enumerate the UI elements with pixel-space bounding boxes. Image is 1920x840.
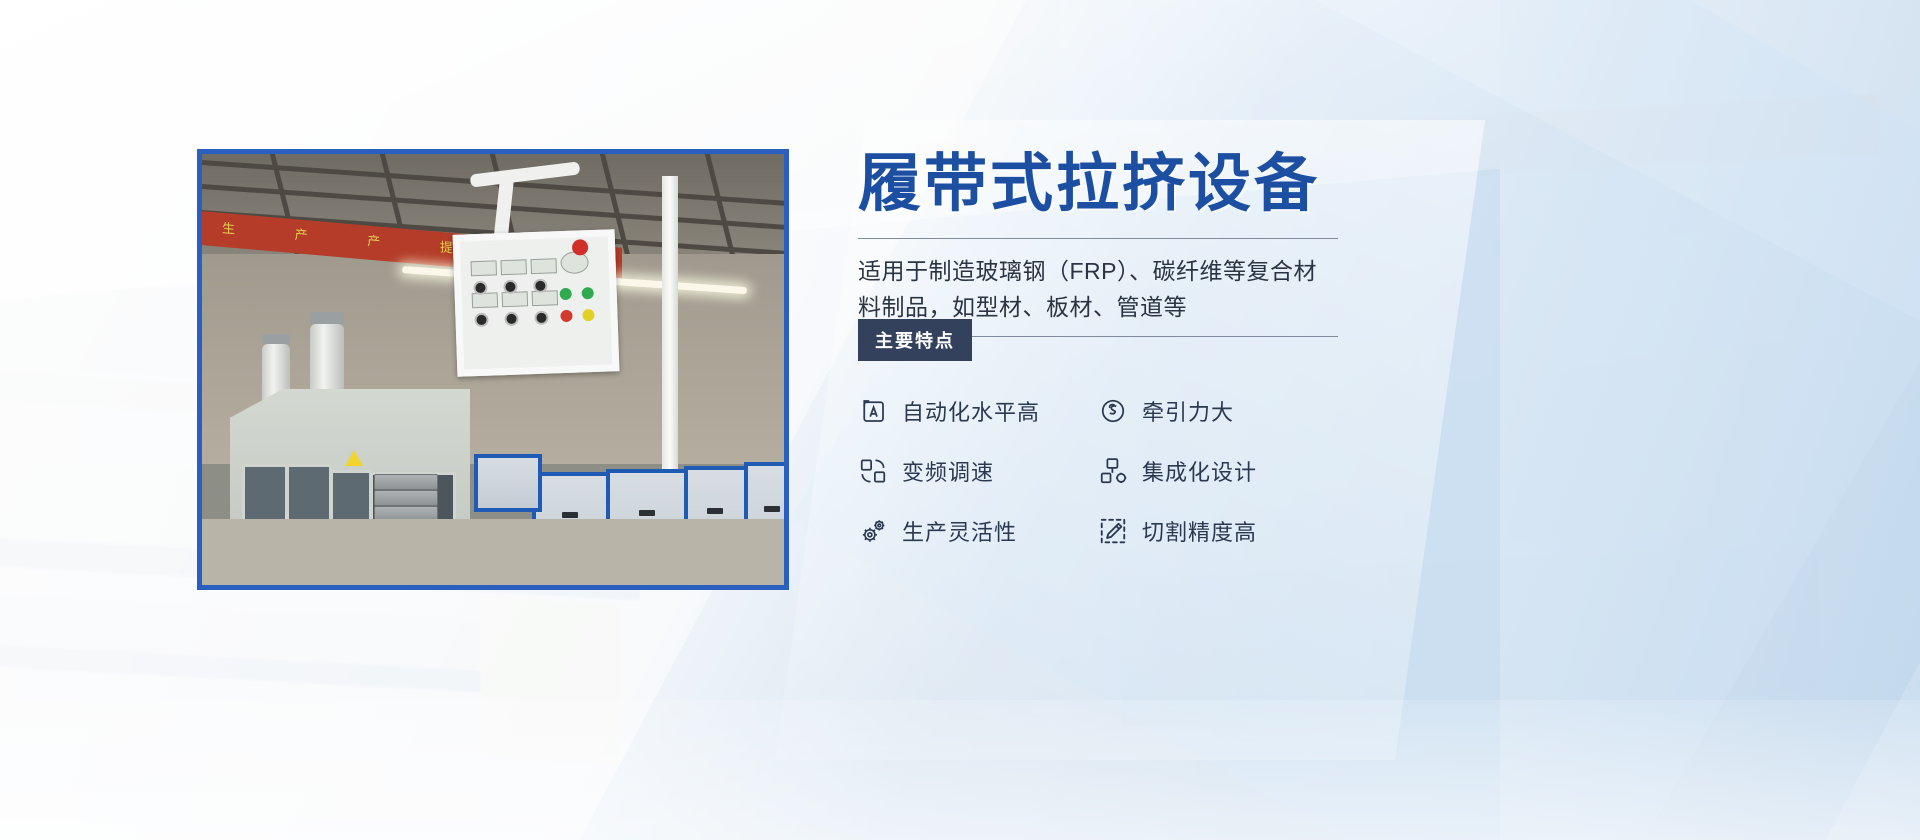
automation-icon [858,396,888,426]
badge-row: 主要特点 [858,319,1378,355]
feature-row: 生产灵活性 切割精度高 [858,515,1358,547]
frequency-icon [858,456,888,486]
product-photo[interactable]: 生 产 产 提 效 [197,149,789,590]
feature-item-frequency[interactable]: 变频调速 [858,455,1098,487]
subtitle-text: 适用于制造玻璃钢（FRP）、碳纤维等复合材料制品，如型材、板材、管道等 [858,253,1338,326]
feature-label: 变频调速 [902,455,994,487]
factory-floor [197,519,789,589]
feature-label: 牵引力大 [1142,395,1234,427]
feature-label: 生产灵活性 [902,515,1017,547]
feature-label: 集成化设计 [1142,455,1257,487]
page-title: 履带式拉挤设备 [858,150,1378,218]
banner-content: 履带式拉挤设备 适用于制造玻璃钢（FRP）、碳纤维等复合材料制品，如型材、板材、… [858,150,1378,575]
gears-icon [858,516,888,546]
cutting-icon [1098,516,1128,546]
feature-label: 自动化水平高 [902,395,1040,427]
status-badge: 主要特点 [858,319,972,361]
feature-label: 切割精度高 [1142,515,1257,547]
feature-row: 自动化水平高 牵引力大 [858,395,1358,427]
integration-icon [1098,456,1128,486]
control-panel [453,229,620,377]
divider-top [858,238,1338,239]
feature-item-flexibility[interactable]: 生产灵活性 [858,515,1098,547]
feature-item-automation[interactable]: 自动化水平高 [858,395,1098,427]
feature-row: 变频调速 集成化设计 [858,455,1358,487]
product-hero-banner: 生 产 产 提 效 [0,0,1920,840]
feature-item-traction[interactable]: 牵引力大 [1098,395,1338,427]
feature-list: 自动化水平高 牵引力大 [858,395,1358,547]
feature-item-integration[interactable]: 集成化设计 [1098,455,1338,487]
feature-item-cutting[interactable]: 切割精度高 [1098,515,1338,547]
traction-icon [1098,396,1128,426]
